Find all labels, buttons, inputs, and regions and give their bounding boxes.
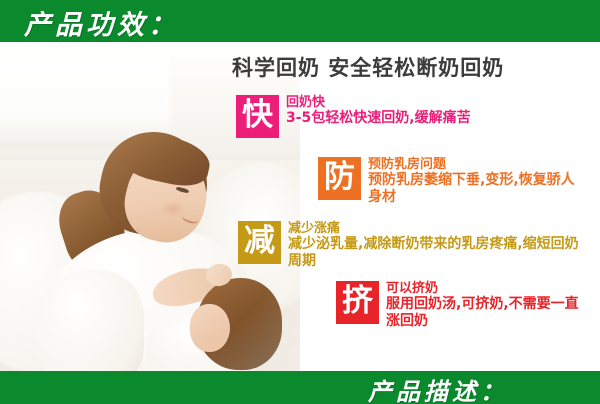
feature-item-kuai: 快 回奶快 3-5包轻松快速回奶,缓解痛苦	[236, 95, 548, 138]
feature-text-kuai: 回奶快 3-5包轻松快速回奶,缓解痛苦	[286, 95, 548, 127]
feature-title-kuai: 回奶快	[286, 95, 548, 110]
feature-title-ji: 可以挤奶	[386, 281, 586, 296]
feature-title-fang: 预防乳房问题	[368, 157, 583, 172]
product-efficacy-title: 产品功效：	[24, 3, 179, 42]
photo-vignette	[0, 42, 300, 371]
headline: 科学回奶 安全轻松断奶回奶	[232, 52, 504, 82]
feature-desc-fang: 预防乳房萎缩下垂,变形,恢复骄人身材	[368, 172, 583, 206]
bottom-green-banner: 产品描述：	[0, 371, 600, 404]
feature-badge-kuai: 快	[236, 95, 279, 138]
feature-desc-kuai: 3-5包轻松快速回奶,缓解痛苦	[286, 110, 548, 127]
feature-item-ji: 挤 可以挤奶 服用回奶汤,可挤奶,不需要一直涨回奶	[336, 281, 586, 330]
product-efficacy-banner: 产品功效： 科学回奶 安全轻松断奶回奶 快 回奶快 3-5包轻松快速回奶,缓解痛…	[0, 0, 600, 404]
product-description-title: 产品描述：	[368, 372, 508, 404]
feature-item-jian: 减 减少涨痛 减少泌乳量,减除断奶带来的乳房疼痛,缩短回奶周期	[238, 221, 584, 270]
feature-text-fang: 预防乳房问题 预防乳房萎缩下垂,变形,恢复骄人身材	[368, 157, 583, 206]
mother-baby-photo	[0, 42, 300, 371]
feature-badge-fang: 防	[318, 157, 361, 200]
feature-title-jian: 减少涨痛	[288, 221, 584, 236]
feature-text-jian: 减少涨痛 减少泌乳量,减除断奶带来的乳房疼痛,缩短回奶周期	[288, 221, 584, 270]
feature-badge-ji: 挤	[336, 281, 379, 324]
feature-desc-ji: 服用回奶汤,可挤奶,不需要一直涨回奶	[386, 296, 586, 330]
feature-text-ji: 可以挤奶 服用回奶汤,可挤奶,不需要一直涨回奶	[386, 281, 586, 330]
top-green-banner: 产品功效：	[0, 0, 600, 42]
feature-badge-jian: 减	[238, 221, 281, 264]
feature-item-fang: 防 预防乳房问题 预防乳房萎缩下垂,变形,恢复骄人身材	[318, 157, 583, 206]
feature-desc-jian: 减少泌乳量,减除断奶带来的乳房疼痛,缩短回奶周期	[288, 236, 584, 270]
